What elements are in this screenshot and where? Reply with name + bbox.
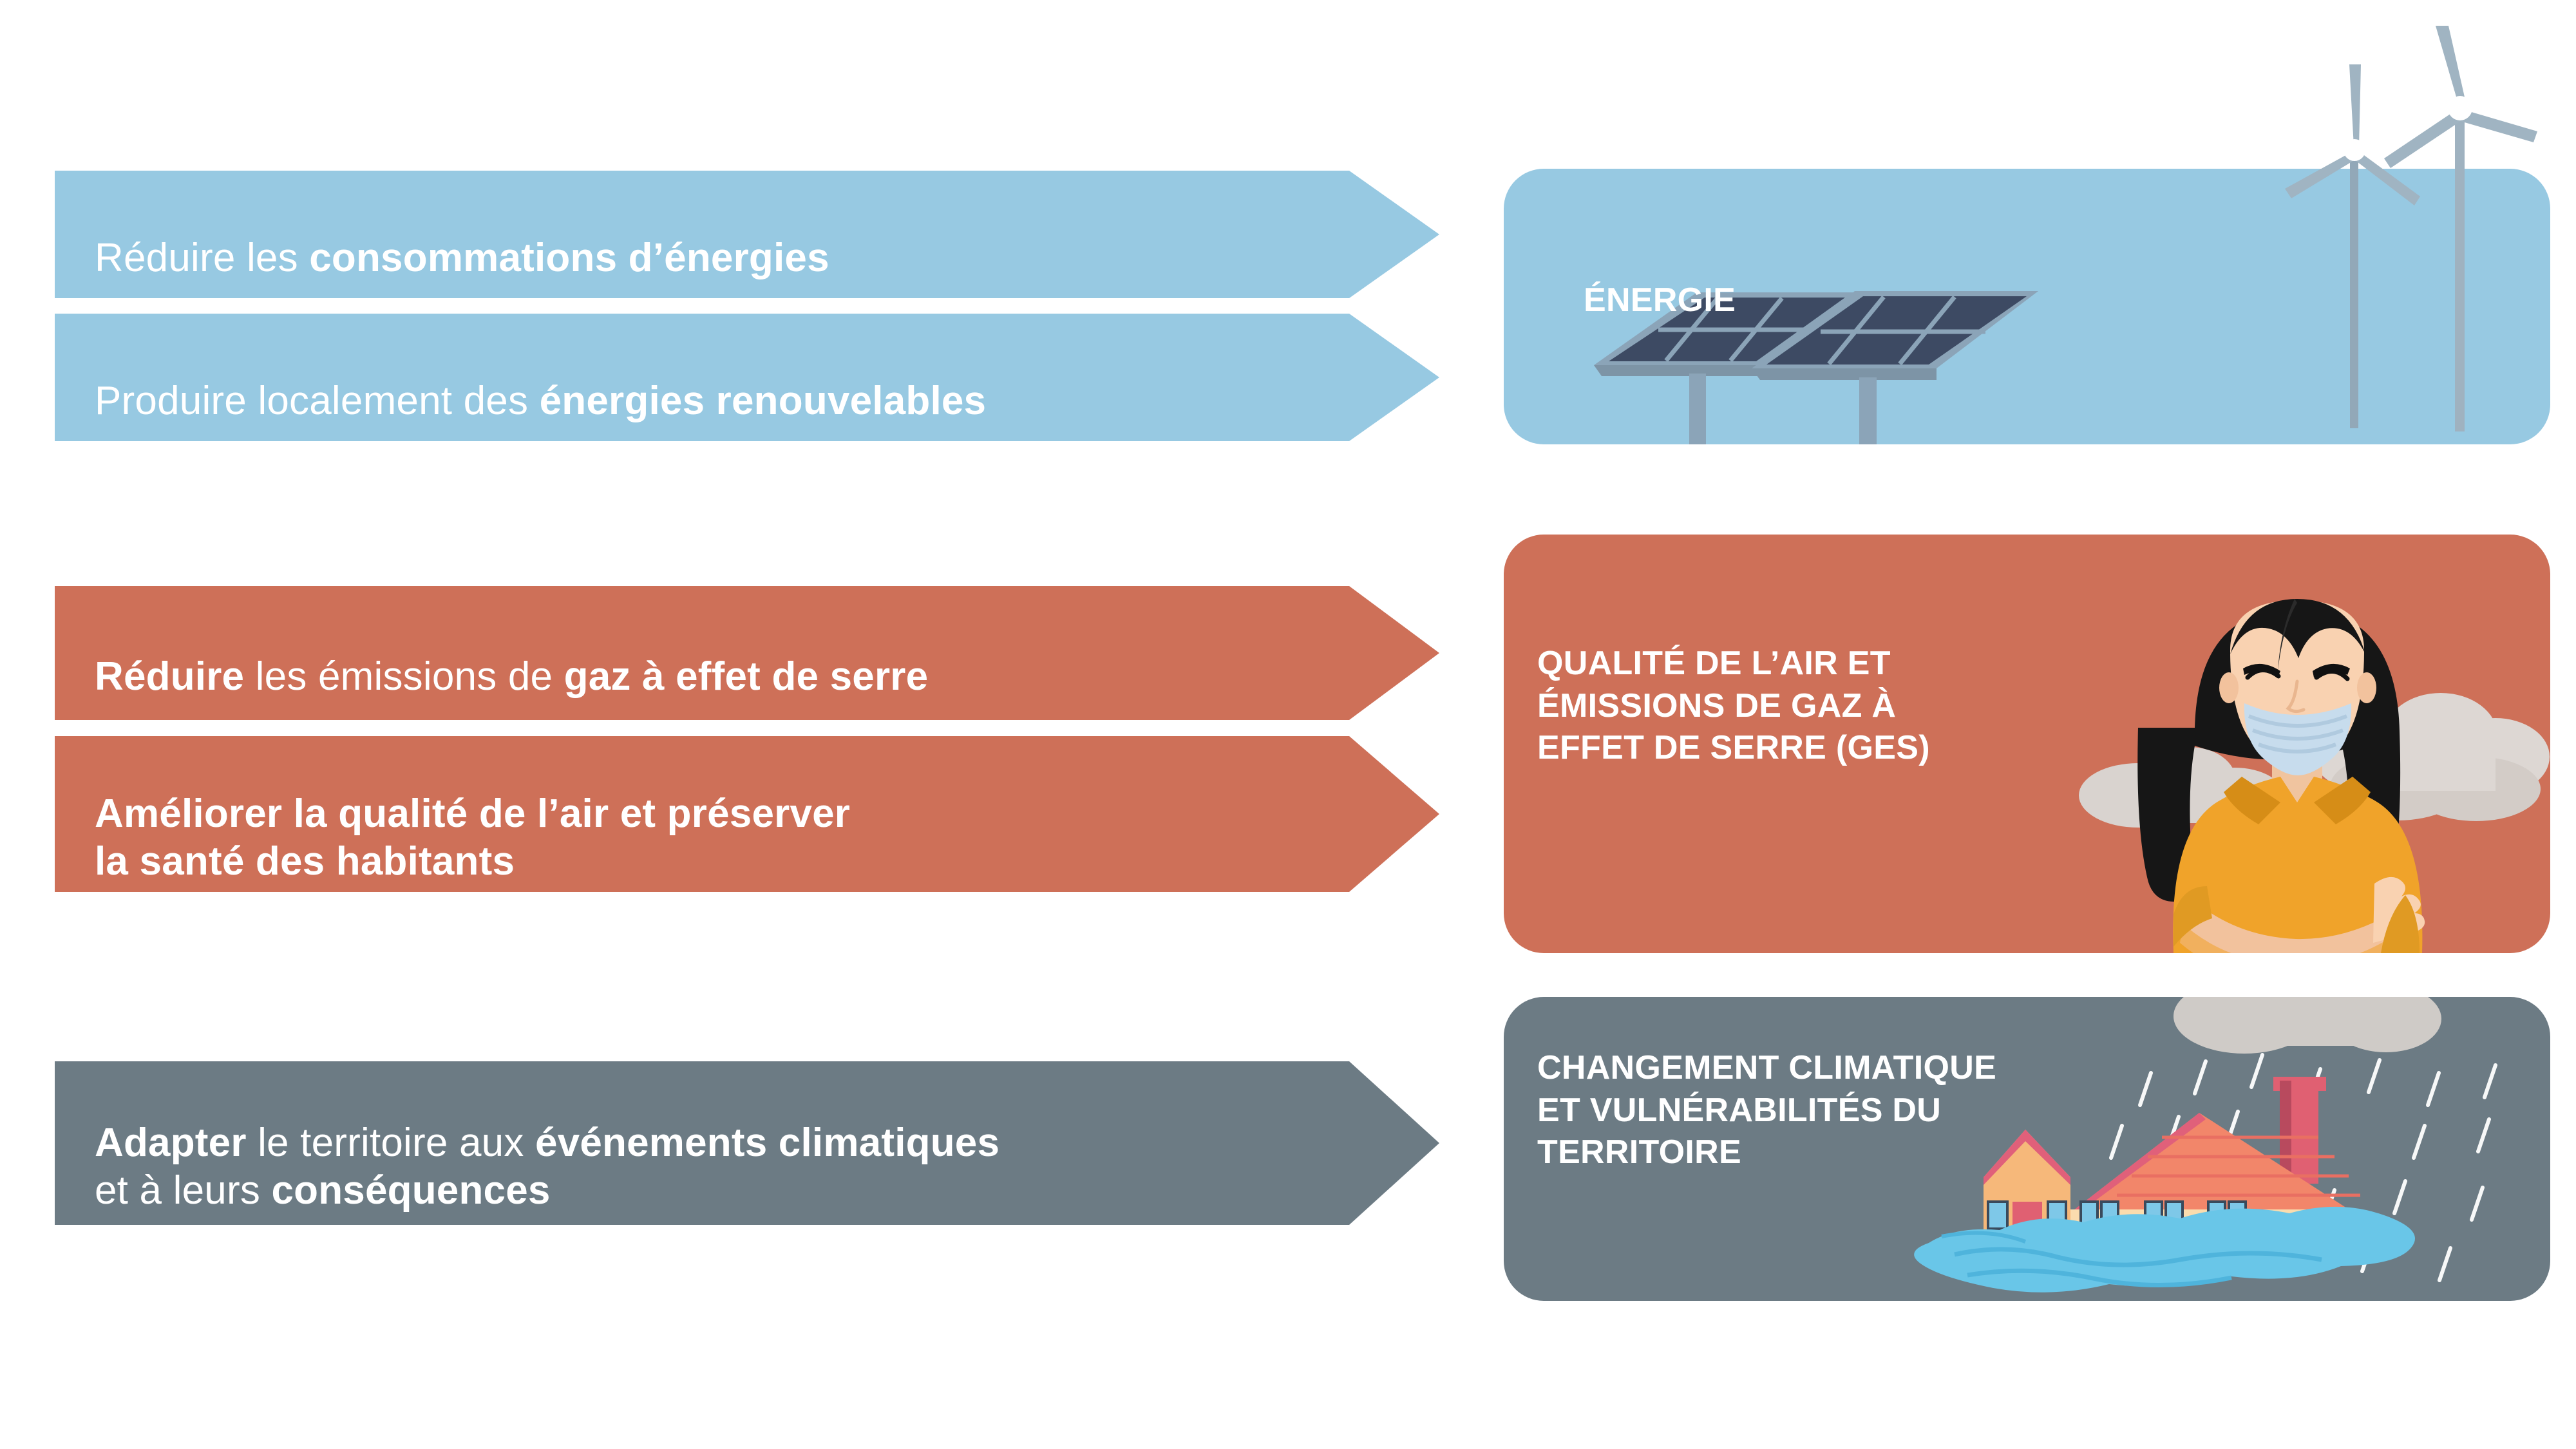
panel-energie-label: ÉNERGIE bbox=[1584, 279, 1736, 322]
storm-cloud-icon bbox=[2173, 997, 2441, 1054]
arrow-ameliorer-qualite-air: Améliorer la qualité de l’air et préserv… bbox=[55, 736, 1439, 892]
arrow-reduire-ges-label: Réduire les émissions de gaz à effet de … bbox=[55, 606, 928, 700]
panel-changement-climatique-label: CHANGEMENT CLIMATIQUE ET VULNÉRABILITÉS … bbox=[1537, 1047, 1996, 1174]
arrow-adapter-territoire: Adapter le territoire aux événements cli… bbox=[55, 1061, 1439, 1225]
arrow-produire-renouvelables-label: Produire localement des énergies renouve… bbox=[55, 330, 986, 424]
arrow-reduire-consommations: Réduire les consommations d’énergies bbox=[55, 171, 1439, 298]
arrow-adapter-territoire-label: Adapter le territoire aux événements cli… bbox=[55, 1072, 999, 1213]
arrow-reduire-ges: Réduire les émissions de gaz à effet de … bbox=[55, 586, 1439, 720]
panel-qualite-air: QUALITÉ DE L’AIR ET ÉMISSIONS DE GAZ À E… bbox=[1504, 535, 2550, 953]
arrow-ameliorer-qualite-air-label: Améliorer la qualité de l’air et préserv… bbox=[55, 743, 850, 884]
panel-qualite-air-label: QUALITÉ DE L’AIR ET ÉMISSIONS DE GAZ À E… bbox=[1537, 643, 1930, 770]
infographic-canvas: Réduire les consommations d’énergies Pro… bbox=[0, 0, 2576, 1449]
arrow-produire-renouvelables: Produire localement des énergies renouve… bbox=[55, 314, 1439, 441]
panel-energie: ÉNERGIE bbox=[1504, 169, 2550, 444]
arrow-reduire-consommations-label: Réduire les consommations d’énergies bbox=[55, 187, 829, 281]
panel-changement-climatique: CHANGEMENT CLIMATIQUE ET VULNÉRABILITÉS … bbox=[1504, 997, 2550, 1301]
